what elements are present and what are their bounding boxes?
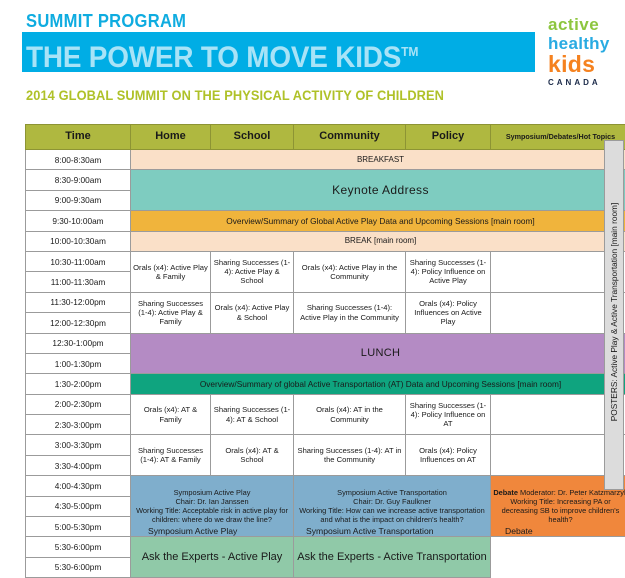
- logo-line-active: active: [548, 16, 620, 33]
- time-cell: 10:30-11:00am: [26, 251, 131, 271]
- page-title-text: THE POWER TO MOVE KIDS: [26, 41, 401, 74]
- time-cell: 1:00-1:30pm: [26, 353, 131, 373]
- session-pm1-community: Orals (x4): AT in the Community: [294, 394, 406, 435]
- session-overview-active-transportation: Overview/Summary of global Active Transp…: [131, 374, 625, 394]
- page-header: SUMMIT PROGRAM THE POWER TO MOVE KIDSTM …: [0, 0, 625, 115]
- program-eyebrow: SUMMIT PROGRAM: [26, 11, 186, 32]
- time-cell: 12:00-12:30pm: [26, 313, 131, 333]
- table-row: 10:30-11:00am Orals (x4): Active Play & …: [26, 251, 625, 271]
- symposium-at-chair: Chair: Dr. Guy Faulkner: [296, 497, 488, 506]
- session-am2-policy: Orals (x4): Policy Influences on Active …: [406, 292, 491, 333]
- table-row: 1:30-2:00pm Overview/Summary of global A…: [26, 374, 625, 394]
- table-row: 11:30-12:00pm Sharing Successes (1-4): A…: [26, 292, 625, 312]
- session-pm2-community: Sharing Successes (1-4): AT in the Commu…: [294, 435, 406, 476]
- session-pm1-school: Sharing Successes (1-4): AT & School: [211, 394, 294, 435]
- session-keynote-address: Keynote Address: [131, 170, 625, 211]
- session-breakfast: BREAKFAST: [131, 150, 625, 170]
- session-pm1-policy: Sharing Successes (1-4): Policy Influenc…: [406, 394, 491, 435]
- session-lunch: LUNCH: [131, 333, 625, 374]
- time-cell: 9:30-10:00am: [26, 211, 131, 231]
- time-cell: 5:30-6:00pm: [26, 557, 131, 577]
- session-am2-home: Sharing Successes (1-4): Active Play & F…: [131, 292, 211, 333]
- time-cell: 9:00-9:30am: [26, 190, 131, 210]
- symposium-at-working-title: Working Title: How can we increase activ…: [296, 506, 488, 524]
- time-cell: 8:30-9:00am: [26, 170, 131, 190]
- logo-line-canada: CANADA: [548, 79, 620, 87]
- session-am1-community: Orals (x4): Active Play in the Community: [294, 251, 406, 292]
- debate-label: Debate: [493, 488, 518, 497]
- session-am1-policy: Sharing Successes (1-4): Policy Influenc…: [406, 251, 491, 292]
- page-subtitle: 2014 GLOBAL SUMMIT ON THE PHYSICAL ACTIV…: [26, 88, 444, 103]
- time-cell: 4:30-5:00pm: [26, 496, 131, 516]
- table-row: 12:30-1:00pm LUNCH: [26, 333, 625, 353]
- session-am2-community: Sharing Successes (1-4): Active Play in …: [294, 292, 406, 333]
- symposium-ap-chair: Chair: Dr. Ian Janssen: [133, 497, 291, 506]
- session-pm1-home: Orals (x4): AT & Family: [131, 394, 211, 435]
- footer-item-symposium-active-transportation: Symposium Active Transportation: [306, 526, 434, 536]
- posters-column: POSTERS: Active Play & Active Transporta…: [604, 140, 624, 490]
- column-header-policy: Policy: [406, 125, 491, 150]
- session-pm2-policy: Orals (x4): Policy Influences on AT: [406, 435, 491, 476]
- debate-details: Moderator: Dr. Peter Katzmarzyk Working …: [502, 488, 625, 524]
- time-cell: 11:00-11:30am: [26, 272, 131, 292]
- session-am2-school: Orals (x4): Active Play & School: [211, 292, 294, 333]
- table-row: 8:30-9:00am Keynote Address: [26, 170, 625, 190]
- table-row: 2:00-2:30pm Orals (x4): AT & Family Shar…: [26, 394, 625, 414]
- column-header-community: Community: [294, 125, 406, 150]
- time-cell: 11:30-12:00pm: [26, 292, 131, 312]
- table-row: 8:00-8:30am BREAKFAST: [26, 150, 625, 170]
- time-cell: 2:00-2:30pm: [26, 394, 131, 414]
- trademark-symbol: TM: [401, 44, 418, 59]
- session-am1-home: Orals (x4): Active Play & Family: [131, 251, 211, 292]
- footer-legend: Symposium Active Play Symposium Active T…: [0, 526, 625, 544]
- time-cell: 3:30-4:00pm: [26, 455, 131, 475]
- logo-line-kids: kids: [548, 53, 620, 76]
- symposium-ap-title: Symposium Active Play: [133, 488, 291, 497]
- time-cell: 10:00-10:30am: [26, 231, 131, 251]
- logo-line-healthy: healthy: [548, 35, 620, 52]
- session-pm2-school: Orals (x4): AT & School: [211, 435, 294, 476]
- time-cell: 2:30-3:00pm: [26, 415, 131, 435]
- footer-item-debate: Debate: [505, 526, 533, 536]
- posters-column-label: POSTERS: Active Play & Active Transporta…: [609, 138, 619, 486]
- symposium-ap-working-title: Working Title: Acceptable risk in active…: [133, 506, 291, 524]
- session-overview-active-play: Overview/Summary of Global Active Play D…: [131, 211, 625, 231]
- column-header-time: Time: [26, 125, 131, 150]
- time-cell: 8:00-8:30am: [26, 150, 131, 170]
- time-cell: 12:30-1:00pm: [26, 333, 131, 353]
- table-header-row: Time Home School Community Policy Sympos…: [26, 125, 625, 150]
- session-am1-school: Sharing Successes (1-4): Active Play & S…: [211, 251, 294, 292]
- table-row: 3:00-3:30pm Sharing Successes (1-4): AT …: [26, 435, 625, 455]
- session-break: BREAK [main room]: [131, 231, 625, 251]
- session-pm2-home: Sharing Successes (1-4): AT & Family: [131, 435, 211, 476]
- page-title: THE POWER TO MOVE KIDSTM: [26, 34, 510, 76]
- table-row: 10:00-10:30am BREAK [main room]: [26, 231, 625, 251]
- schedule-table: Time Home School Community Policy Sympos…: [25, 124, 625, 578]
- time-cell: 1:30-2:00pm: [26, 374, 131, 394]
- symposium-at-title: Symposium Active Transportation: [296, 488, 488, 497]
- time-cell: 4:00-4:30pm: [26, 476, 131, 496]
- time-cell: 3:00-3:30pm: [26, 435, 131, 455]
- column-header-home: Home: [131, 125, 211, 150]
- active-healthy-kids-canada-logo: active healthy kids CANADA: [548, 16, 620, 87]
- table-row: 4:00-4:30pm Symposium Active Play Chair:…: [26, 476, 625, 496]
- column-header-school: School: [211, 125, 294, 150]
- footer-item-symposium-active-play: Symposium Active Play: [148, 526, 237, 536]
- table-row: 9:30-10:00am Overview/Summary of Global …: [26, 211, 625, 231]
